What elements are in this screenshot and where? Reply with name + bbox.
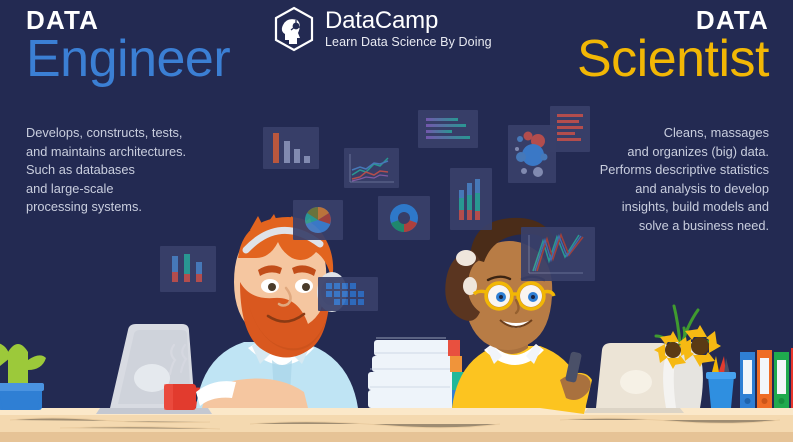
chart-card-pie bbox=[293, 200, 343, 240]
chart-card-mini-bar bbox=[160, 246, 216, 292]
chart-card-donut bbox=[378, 196, 430, 240]
desk-edge-shadow bbox=[0, 432, 793, 442]
datacamp-hexagon-head-icon bbox=[273, 6, 315, 52]
sunflower-2 bbox=[679, 325, 721, 367]
infographic-canvas: DATA Engineer DATA Scientist DataCamp Le… bbox=[0, 0, 793, 442]
left-headline: Engineer bbox=[26, 32, 230, 86]
logo-tagline: Learn Data Science By Doing bbox=[325, 36, 492, 49]
logo-brand: DataCamp bbox=[325, 9, 492, 33]
cactus-plant bbox=[0, 342, 46, 410]
book-stack bbox=[368, 337, 464, 408]
chart-card-heatmap bbox=[318, 277, 378, 311]
right-title-block: DATA Scientist bbox=[577, 6, 769, 86]
right-description: Cleans, massages and organizes (big) dat… bbox=[600, 124, 769, 236]
datacamp-logo[interactable]: DataCamp Learn Data Science By Doing bbox=[273, 6, 492, 52]
right-headline: Scientist bbox=[577, 32, 769, 86]
logo-text: DataCamp Learn Data Science By Doing bbox=[325, 9, 492, 49]
pencil-cup bbox=[706, 356, 736, 408]
chart-card-stacked-bar bbox=[450, 168, 492, 230]
left-title-block: DATA Engineer bbox=[26, 6, 230, 86]
chart-card-vertical-bar bbox=[263, 127, 319, 169]
chart-card-lined-doc bbox=[550, 106, 590, 152]
binder-row bbox=[740, 348, 793, 408]
chart-card-bubble-scatter bbox=[508, 125, 556, 183]
chart-card-line bbox=[344, 148, 399, 188]
engineer-character bbox=[196, 214, 358, 408]
chart-card-hbar-gradient bbox=[418, 110, 478, 148]
left-description: Develops, constructs, tests, and maintai… bbox=[26, 124, 186, 217]
chart-card-zigzag-line bbox=[521, 227, 595, 281]
